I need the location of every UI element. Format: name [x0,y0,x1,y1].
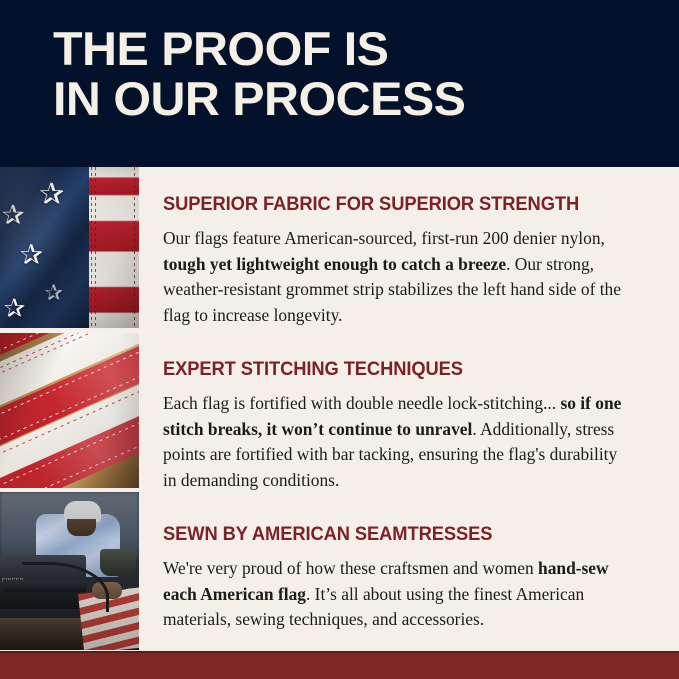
photo-shading [0,333,139,488]
content-column: SUPERIOR FABRIC FOR SUPERIOR STRENGTH Ou… [163,167,643,633]
section-superior-fabric: SUPERIOR FABRIC FOR SUPERIOR STRENGTH Ou… [163,167,643,328]
header-banner: THE PROOF IS IN OUR PROCESS [0,0,679,167]
infographic-page: THE PROOF IS IN OUR PROCESS ✰ ✰ ✰ ✰ ✰ [0,0,679,679]
page-title-line-2: IN OUR PROCESS [53,74,671,124]
section-heading: EXPERT STITCHING TECHNIQUES [163,358,614,380]
page-title-line-1: THE PROOF IS [53,24,671,74]
section-heading: SUPERIOR FABRIC FOR SUPERIOR STRENGTH [163,193,614,215]
photo-seamstress: SINGER [0,492,139,650]
photo-shading [0,492,139,650]
photo-stitching-closeup [0,333,139,488]
section-sewn-by-american-seamtresses: SEWN BY AMERICAN SEAMTRESSES We're very … [163,493,643,633]
page-title: THE PROOF IS IN OUR PROCESS [53,24,671,124]
section-body: Each flag is fortified with double needl… [163,391,633,493]
section-heading: SEWN BY AMERICAN SEAMTRESSES [163,523,614,545]
section-body: Our flags feature American-sourced, firs… [163,226,633,328]
bottom-accent-bar [0,651,679,679]
photo-flag-closeup: ✰ ✰ ✰ ✰ ✰ [0,167,139,328]
section-body: We're very proud of how these craftsmen … [163,556,633,633]
photo-shading [0,167,139,328]
section-expert-stitching: EXPERT STITCHING TECHNIQUES Each flag is… [163,328,643,493]
